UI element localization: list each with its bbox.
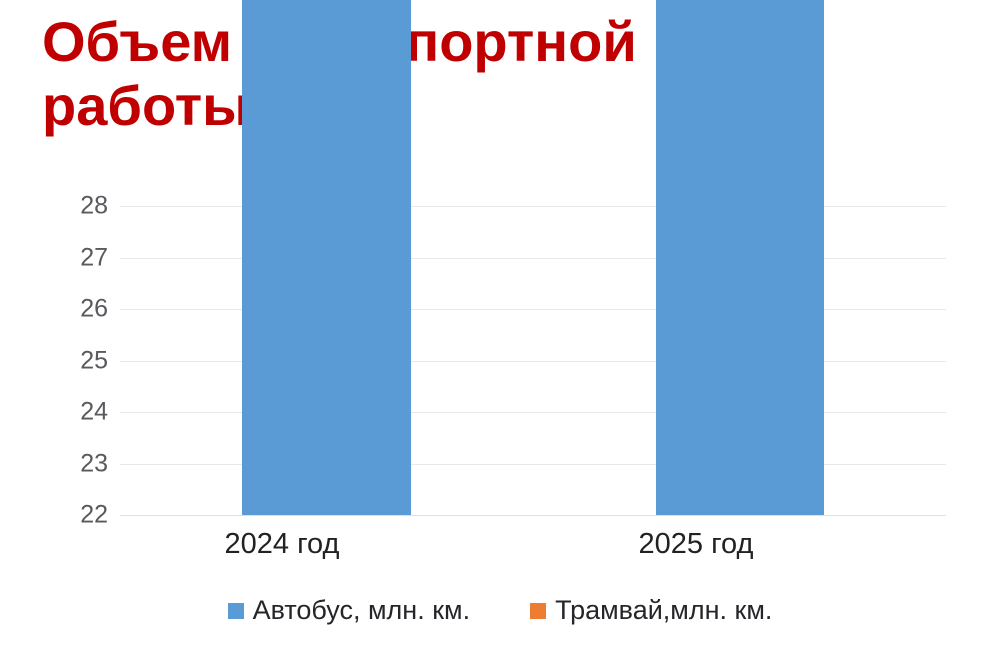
legend-label: Трамвай,млн. км. [555, 597, 772, 624]
bar-group[interactable]: 24,62,5 [242, 206, 411, 515]
x-axis-category-label: 2025 год [576, 530, 816, 559]
y-axis-tick-label: 27 [46, 245, 108, 270]
bar-segment-bus[interactable]: 24,1 [656, 0, 824, 515]
y-axis-tick-label: 28 [46, 194, 108, 219]
y-axis-tick-label: 25 [46, 348, 108, 373]
chart-container: Объем транспортной работы 28272625242322… [0, 0, 1000, 656]
y-axis-tick-label: 24 [46, 400, 108, 425]
chart-legend: Автобус, млн. км.Трамвай,млн. км. [0, 597, 1000, 624]
legend-label: Автобус, млн. км. [253, 597, 471, 624]
y-axis: 28272625242322 [46, 206, 108, 515]
y-axis-tick-label: 22 [46, 503, 108, 528]
bar-group[interactable]: 24,12,2 [656, 206, 824, 515]
legend-swatch-tram [530, 603, 546, 619]
legend-item-bus[interactable]: Автобус, млн. км. [228, 597, 471, 624]
y-axis-tick-label: 26 [46, 297, 108, 322]
legend-item-tram[interactable]: Трамвай,млн. км. [530, 597, 772, 624]
legend-swatch-bus [228, 603, 244, 619]
gridline [120, 515, 946, 516]
bar-segment-bus[interactable]: 24,6 [242, 0, 411, 515]
y-axis-tick-label: 23 [46, 451, 108, 476]
x-axis-category-label: 2024 год [162, 530, 402, 559]
plot-area: 24,62,524,12,2 [120, 206, 946, 515]
